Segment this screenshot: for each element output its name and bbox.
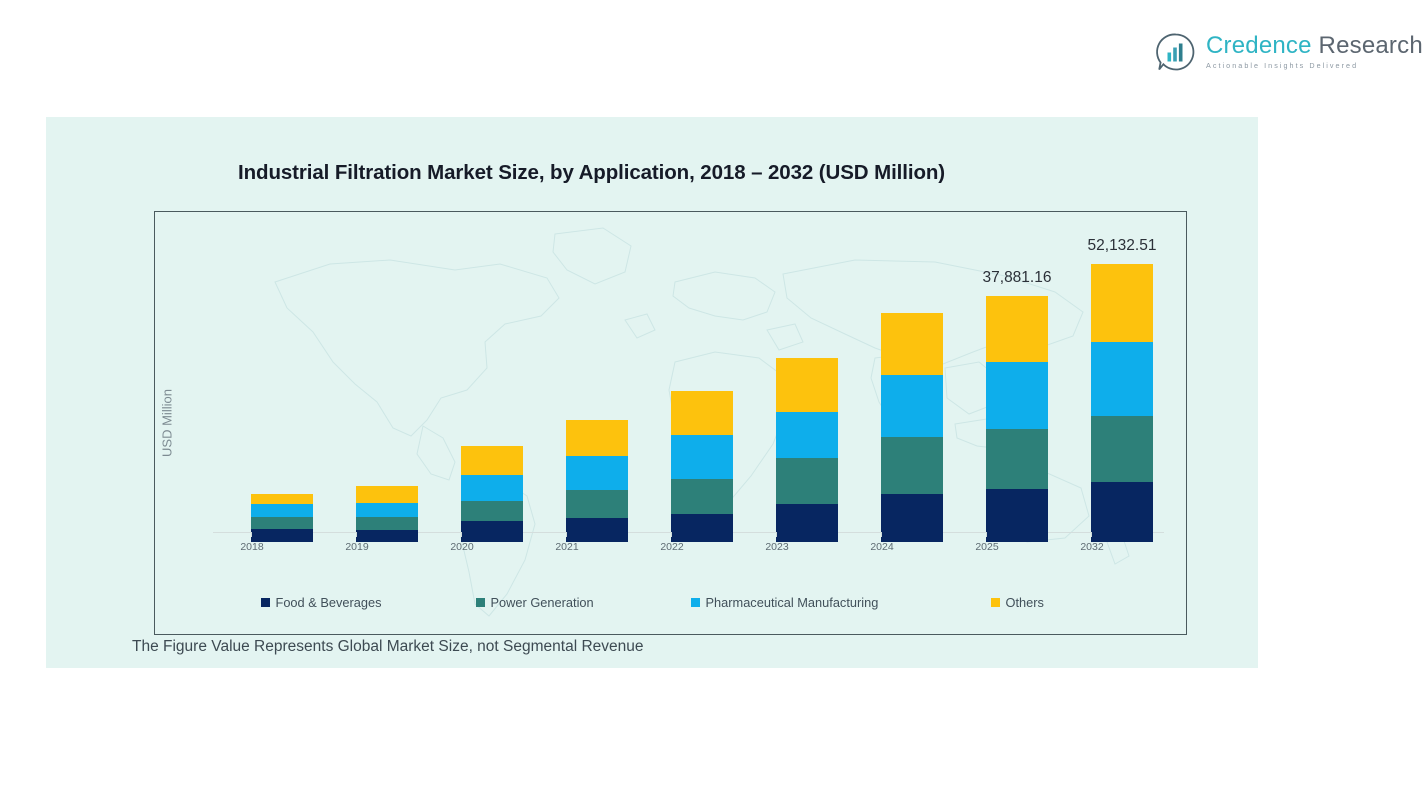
tick-mark-2021 [566, 532, 567, 537]
segment-power-generation-2023 [776, 458, 838, 504]
legend-label-power-generation: Power Generation [491, 595, 594, 610]
segment-pharmaceutical-2024 [881, 375, 943, 437]
tick-mark-2022 [671, 532, 672, 537]
bar-2019[interactable] [356, 486, 418, 542]
brand-logo: Credence Research Actionable Insights De… [1155, 26, 1400, 78]
x-tick-2032: 2032 [1061, 541, 1123, 553]
brand-name-part1: Credence [1206, 32, 1312, 59]
tick-mark-2024 [881, 532, 882, 537]
segment-power-generation-2018 [251, 517, 313, 529]
legend-item-power-generation[interactable]: Power Generation [476, 595, 691, 610]
segment-power-generation-2024 [881, 437, 943, 494]
segment-power-generation-2022 [671, 479, 733, 514]
segment-pharmaceutical-2019 [356, 503, 418, 517]
segment-food-beverages-2020 [461, 521, 523, 542]
segment-power-generation-2020 [461, 501, 523, 521]
brand-name: Credence Research [1206, 34, 1423, 58]
legend-item-pharmaceutical-manufacturing[interactable]: Pharmaceutical Manufacturing [691, 595, 991, 610]
segment-others-2032 [1091, 264, 1153, 342]
segment-food-beverages-2022 [671, 514, 733, 542]
brand-tagline: Actionable Insights Delivered [1206, 62, 1423, 69]
bar-2032[interactable]: 52,132.51 [1091, 264, 1153, 542]
x-tick-2018: 2018 [221, 541, 283, 553]
bar-2021[interactable] [566, 420, 628, 542]
legend-swatch-pharmaceutical-manufacturing [691, 598, 700, 607]
y-axis-label: USD Million [159, 389, 174, 457]
legend-item-food-beverages[interactable]: Food & Beverages [261, 595, 476, 610]
chart-legend: Food & Beverages Power Generation Pharma… [155, 595, 1186, 610]
brand-name-part2: Research [1319, 32, 1423, 59]
bar-2020[interactable] [461, 446, 523, 542]
x-tick-2023: 2023 [746, 541, 808, 553]
plot-frame: USD Million [154, 211, 1187, 635]
segment-others-2025 [986, 296, 1048, 362]
segment-pharmaceutical-2032 [1091, 342, 1153, 416]
segment-others-2019 [356, 486, 418, 503]
bar-value-2032: 52,132.51 [1088, 237, 1157, 255]
bar-chart-circle-icon [1155, 31, 1197, 73]
x-tick-2021: 2021 [536, 541, 598, 553]
tick-mark-2019 [356, 532, 357, 537]
segment-others-2022 [671, 391, 733, 435]
legend-label-food-beverages: Food & Beverages [276, 595, 382, 610]
bar-2023[interactable] [776, 358, 838, 542]
legend-swatch-others [991, 598, 1000, 607]
legend-swatch-food-beverages [261, 598, 270, 607]
tick-mark-2020 [461, 532, 462, 537]
x-tick-2020: 2020 [431, 541, 493, 553]
tick-mark-2023 [776, 532, 777, 537]
x-tick-2022: 2022 [641, 541, 703, 553]
segment-pharmaceutical-2025 [986, 362, 1048, 429]
chart-title: Industrial Filtration Market Size, by Ap… [238, 161, 945, 185]
tick-mark-2025 [986, 532, 987, 537]
legend-swatch-power-generation [476, 598, 485, 607]
segment-others-2024 [881, 313, 943, 375]
segment-others-2018 [251, 494, 313, 504]
bar-2018[interactable] [251, 494, 313, 542]
bar-2024[interactable] [881, 313, 943, 542]
bar-2022[interactable] [671, 391, 733, 542]
x-tick-2019: 2019 [326, 541, 388, 553]
segment-pharmaceutical-2022 [671, 435, 733, 479]
segment-food-beverages-2021 [566, 518, 628, 542]
tick-mark-2032 [1091, 532, 1092, 537]
segment-pharmaceutical-2021 [566, 456, 628, 490]
legend-label-pharmaceutical-manufacturing: Pharmaceutical Manufacturing [706, 595, 879, 610]
tick-mark-2018 [251, 532, 252, 537]
segment-pharmaceutical-2018 [251, 504, 313, 517]
segment-others-2023 [776, 358, 838, 412]
segment-food-beverages-2024 [881, 494, 943, 542]
segment-others-2020 [461, 446, 523, 475]
segment-power-generation-2032 [1091, 416, 1153, 482]
segment-others-2021 [566, 420, 628, 456]
bar-value-2025: 37,881.16 [983, 269, 1052, 287]
segment-food-beverages-2023 [776, 504, 838, 542]
segment-power-generation-2019 [356, 517, 418, 530]
segment-power-generation-2021 [566, 490, 628, 518]
legend-label-others: Others [1006, 595, 1044, 610]
legend-item-others[interactable]: Others [991, 595, 1081, 610]
segment-pharmaceutical-2023 [776, 412, 838, 458]
segment-pharmaceutical-2020 [461, 475, 523, 501]
bar-2025[interactable]: 37,881.16 [986, 296, 1048, 542]
chart-panel: Industrial Filtration Market Size, by Ap… [46, 117, 1258, 668]
segment-power-generation-2025 [986, 429, 1048, 489]
chart-footnote: The Figure Value Represents Global Marke… [132, 638, 644, 656]
x-tick-2025: 2025 [956, 541, 1018, 553]
segment-food-beverages-2032 [1091, 482, 1153, 542]
x-tick-2024: 2024 [851, 541, 913, 553]
segment-food-beverages-2025 [986, 489, 1048, 542]
plot-area: 37,881.16 52,132.51 [213, 222, 1164, 542]
